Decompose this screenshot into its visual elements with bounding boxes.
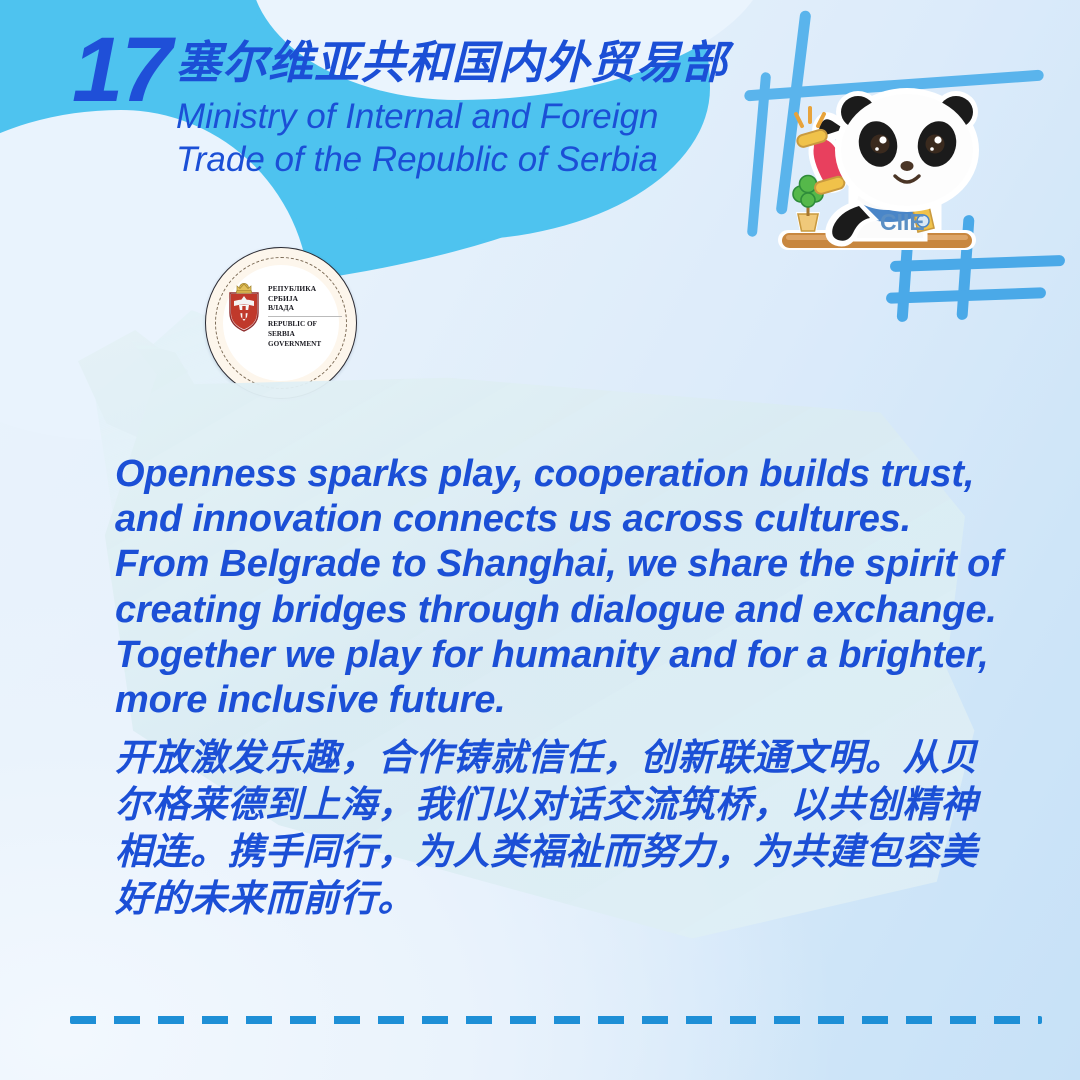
title-group: 塞尔维亚共和国内外贸易部 Ministry of Internal and Fo… [176, 38, 756, 182]
quote-english-highlight: play for humanity [346, 634, 659, 676]
emblem-divider-rule [268, 316, 342, 317]
serbian-coat-of-arms-icon [224, 279, 264, 333]
title-english: Ministry of Internal and Foreign Trade o… [176, 96, 756, 181]
quote-block: Openness sparks play, cooperation builds… [115, 452, 1005, 923]
mascot-belly-label: CIIE [880, 209, 925, 235]
title-english-line-2: Trade of the Republic of Serbia [176, 139, 756, 182]
title-chinese: 塞尔维亚共和国内外贸易部 [176, 38, 756, 88]
poster-canvas: 17 塞尔维亚共和国内外贸易部 Ministry of Internal and… [0, 0, 1080, 1080]
emblem-line-serbian-2: ВЛАДА [268, 303, 342, 313]
jinbao-panda-mascot-icon: CIIE [762, 78, 1012, 298]
serbia-government-emblem: РЕПУБЛИКА СРБИЈА ВЛАДА REPUBLIC OF SERBI… [205, 247, 357, 399]
quote-chinese: 开放激发乐趣，合作铸就信任，创新联通文明。从贝尔格莱德到上海，我们以对话交流筑桥… [115, 735, 1005, 923]
emblem-text-block: РЕПУБЛИКА СРБИЈА ВЛАДА REPUBLIC OF SERBI… [268, 284, 342, 350]
title-english-line-1: Ministry of Internal and Foreign [176, 96, 756, 139]
emblem-line-english-1: REPUBLIC OF SERBIA [268, 320, 342, 339]
emblem-line-serbian-1: РЕПУБЛИКА СРБИЈА [268, 284, 342, 303]
dashed-divider [70, 1016, 1042, 1024]
emblem-line-english-2: GOVERNMENT [268, 340, 342, 350]
entry-number: 17 [72, 24, 170, 116]
quote-english: Openness sparks play, cooperation builds… [115, 452, 1005, 723]
quote-chinese-highlight: 为人类福祉而努力， [415, 831, 753, 872]
